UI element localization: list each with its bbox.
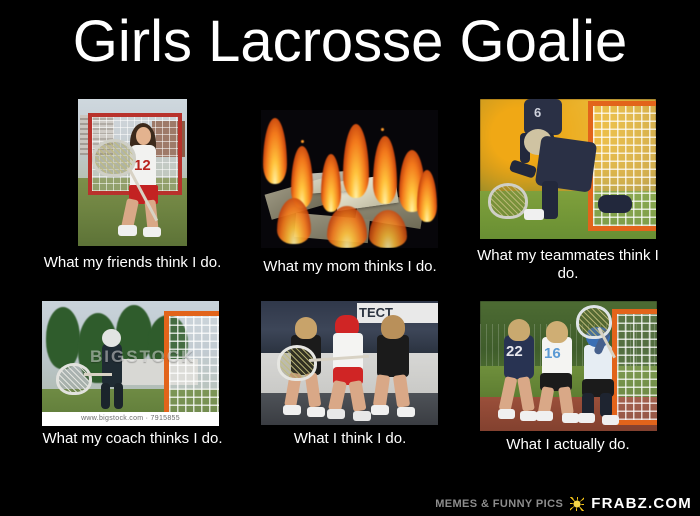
- player-16-shoe: [536, 411, 553, 421]
- goalie-helmet: [102, 329, 121, 347]
- panel-caption-coach: What my coach thinks I do.: [20, 430, 245, 448]
- defender-shoe: [307, 407, 325, 417]
- ember: [381, 128, 384, 131]
- panel-caption-think: What I think I do.: [250, 430, 450, 448]
- stick-head: [277, 345, 317, 381]
- stick-head: [56, 363, 92, 395]
- page-title: Girls Lacrosse Goalie: [0, 4, 700, 80]
- panel-photo-friends: 12: [78, 99, 187, 246]
- goalie-shoe: [524, 209, 544, 220]
- goalie-leg: [600, 393, 612, 417]
- player-22-hair: [508, 319, 530, 341]
- goalie-leg: [542, 181, 558, 219]
- goalie-helmet: [335, 315, 359, 335]
- stick-shaft: [84, 373, 112, 376]
- player-shoe: [118, 225, 137, 236]
- meme-image: Girls Lacrosse Goalie 12 What my friends…: [0, 0, 700, 516]
- footer-tagline: Memes & Funny Pics: [435, 498, 563, 510]
- defender-body: [377, 335, 409, 377]
- panel-caption-teammates: What my teammates think I do.: [468, 247, 668, 283]
- player-16-shoe: [562, 413, 579, 423]
- goal-net-orange: [612, 309, 657, 425]
- defender-shoe: [397, 407, 415, 417]
- defender-shoe: [283, 405, 301, 415]
- panel-photo-think: TECT: [261, 301, 438, 425]
- bigstock-footer: www.bigstock.com · 7915855: [42, 412, 219, 426]
- footer-branding: Memes & Funny Pics FRABZ.COM: [435, 495, 692, 512]
- goalie-shoe: [578, 413, 595, 423]
- ember: [301, 140, 304, 143]
- goalie-jersey: [333, 333, 363, 371]
- jersey-number: 12: [134, 157, 151, 174]
- panel-photo-mom: [261, 110, 438, 248]
- jersey-number-22: 22: [506, 343, 523, 360]
- tree: [46, 307, 80, 369]
- defender-hair: [295, 317, 317, 339]
- goalie-shoe: [327, 409, 345, 419]
- player-22-shoe: [520, 411, 537, 421]
- goalie-leg: [114, 383, 123, 409]
- panel-caption-mom: What my mom thinks I do.: [250, 258, 450, 276]
- goalie-shoe: [353, 411, 371, 421]
- sunburst-icon: [570, 497, 584, 511]
- panel-photo-coach: BIGSTOCK www.bigstock.com · 7915855: [42, 301, 219, 426]
- panel-caption-actually: What I actually do.: [468, 436, 668, 454]
- player-16-hair: [546, 321, 568, 343]
- jersey-number: 6: [534, 105, 541, 120]
- footer-brand: FRABZ.COM: [591, 495, 692, 512]
- player-shoe: [143, 227, 161, 237]
- jersey-number-16: 16: [544, 345, 561, 362]
- player-face: [136, 127, 151, 145]
- player-22-shoe: [498, 409, 515, 419]
- panel-photo-teammates: 6: [480, 99, 656, 239]
- panel-photo-actually: 22 16: [480, 301, 657, 431]
- stick-head: [576, 305, 612, 339]
- defender-hair: [381, 315, 405, 339]
- goalie-leg: [101, 383, 110, 409]
- defender-shoe: [371, 405, 389, 415]
- stick-head: [488, 183, 528, 219]
- player-in-goal: [598, 195, 632, 213]
- bigstock-watermark: BIGSTOCK: [90, 347, 195, 367]
- goalie-shoe: [602, 415, 619, 425]
- panel-caption-friends: What my friends think I do.: [20, 254, 245, 272]
